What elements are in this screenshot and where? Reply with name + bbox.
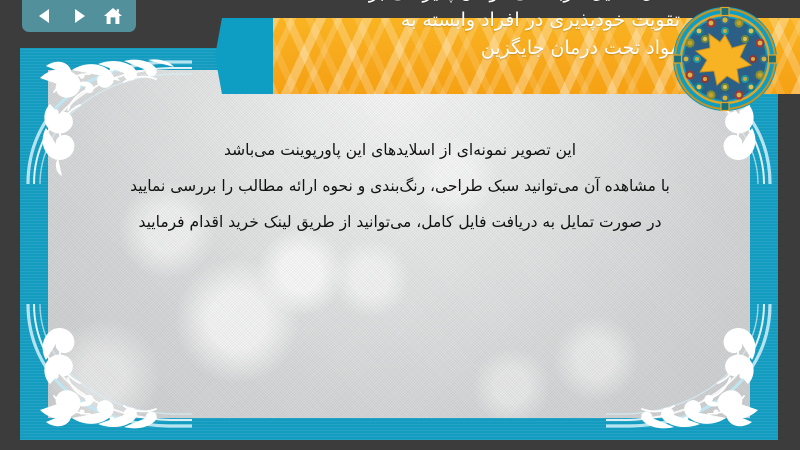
slide-content-panel xyxy=(48,70,750,418)
triangle-left-icon xyxy=(36,7,54,25)
slide-navigation-toolbar xyxy=(22,0,136,32)
slide-frame xyxy=(20,48,778,440)
previous-slide-button[interactable] xyxy=(32,4,58,28)
body-line-1: این تصویر نمونه‌ای از اسلایدهای این پاور… xyxy=(60,132,740,168)
slide-title: کامل تحلیل اثربخشی درمان پذیرشی بر تقویت… xyxy=(250,0,680,62)
slide-body-text: این تصویر نمونه‌ای از اسلایدهای این پاور… xyxy=(60,132,740,240)
body-line-2: با مشاهده آن می‌توانید سبک طراحی، رنگ‌بن… xyxy=(60,168,740,204)
body-line-3: در صورت تمایل به دریافت فایل کامل، می‌تو… xyxy=(60,204,740,240)
next-slide-button[interactable] xyxy=(66,4,92,28)
home-icon xyxy=(103,7,123,26)
triangle-right-icon xyxy=(70,7,88,25)
slide-viewer-stage: کامل تحلیل اثربخشی درمان پذیرشی بر تقویت… xyxy=(0,0,800,450)
home-button[interactable] xyxy=(100,4,126,28)
